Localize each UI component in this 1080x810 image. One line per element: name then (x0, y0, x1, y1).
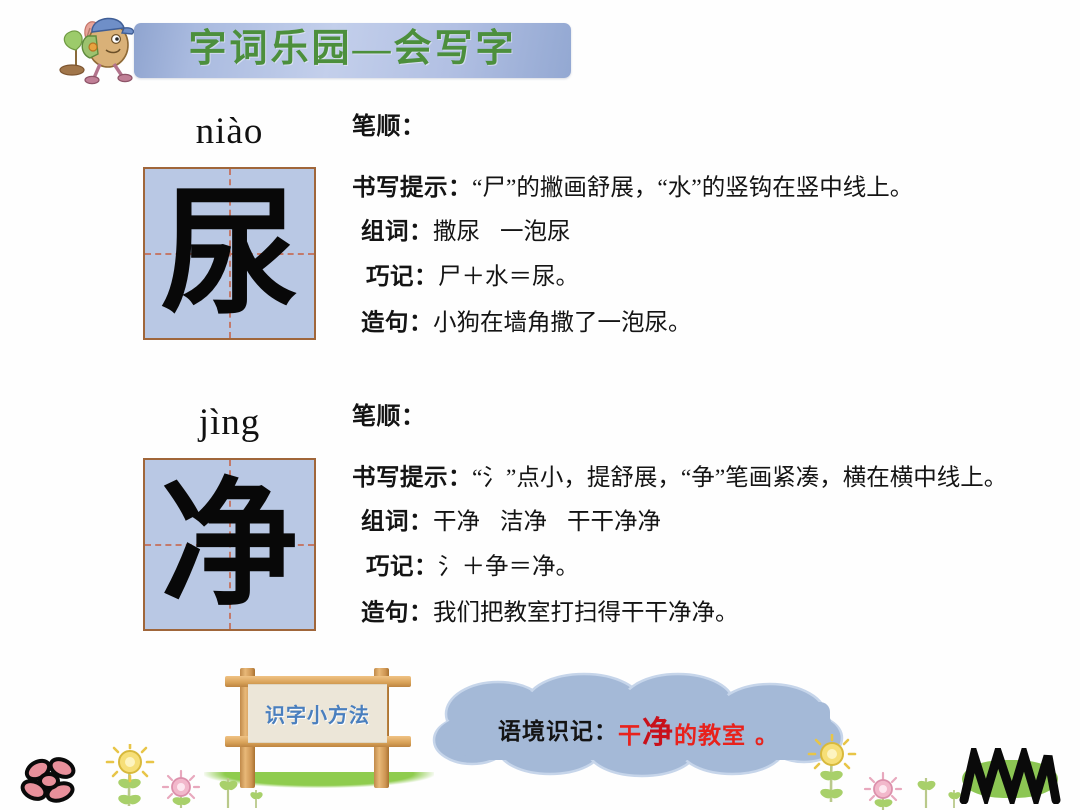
stroke-order-label: 笔顺： (352, 404, 426, 430)
tianzige-grid-icon: 净 (143, 458, 316, 631)
mnemonic-row: 巧记：氵＋争＝净。 (352, 552, 1064, 583)
flower-yellow-icon (806, 734, 864, 810)
sign-label: 识字小方法 (265, 699, 370, 728)
tianzige-grid-icon: 尿 (143, 167, 316, 340)
title-banner: 字词乐园—会写字 (134, 23, 571, 78)
word-item: 干净 (433, 509, 480, 535)
phrase-prefix: 干 (618, 723, 642, 749)
word-item: 一泡尿 (500, 219, 571, 245)
stroke-order-row: 笔顺： (352, 402, 1064, 434)
mnemonic-label: 巧记： (366, 554, 438, 580)
example-sentence-row: 造句：我们把教室打扫得干干净净。 (352, 598, 1064, 629)
word-formation-label: 组词： (361, 219, 433, 245)
word-item: 撒尿 (433, 219, 480, 245)
mnemonic-label: 巧记： (366, 264, 438, 290)
flower-small-pink-icon (160, 766, 204, 810)
pinyin-label: jìng (122, 404, 337, 452)
example-sentence-label: 造句： (361, 600, 433, 626)
flower-pink-icon (18, 754, 84, 810)
mnemonic-value: 尸＋水＝尿。 (438, 264, 579, 290)
writing-tip-value: “氵”点小，提舒展，“争”笔画紧凑，横在横中线上。 (472, 465, 1007, 491)
flower-small-pink-icon (862, 768, 906, 810)
sign-board: 识字小方法 (248, 684, 387, 743)
mnemonic-value: 氵＋争＝净。 (438, 554, 579, 580)
writing-tip-value: “尸”的撇画舒展，“水”的竖钩在竖中线上。 (472, 175, 913, 201)
sprout-icon (912, 766, 942, 810)
context-memory-phrase: 干净的教室 。 (618, 707, 779, 752)
pinyin-label: niào (122, 113, 337, 161)
grass-scribble-icon (958, 748, 1070, 809)
example-sentence-value: 小狗在墙角撒了一泡尿。 (433, 310, 692, 336)
writing-tip-label: 书写提示： (352, 465, 472, 491)
word-formation-row: 组词：撒尿一泡尿 (352, 217, 1064, 248)
example-sentence-label: 造句： (361, 310, 433, 336)
example-sentence-value: 我们把教室打扫得干干净净。 (433, 600, 739, 626)
writing-tip-row: 书写提示：“尸”的撇画舒展，“水”的竖钩在竖中线上。 (352, 173, 1064, 204)
writing-tip-row: 书写提示：“氵”点小，提舒展，“争”笔画紧凑，横在横中线上。 (352, 463, 1064, 494)
stroke-order-label: 笔顺： (352, 114, 426, 140)
page-title: 字词乐园—会写字 (188, 30, 516, 71)
context-memory-label: 语境识记： (498, 712, 618, 746)
example-sentence-row: 造句：小狗在墙角撒了一泡尿。 (352, 308, 1064, 339)
sprout-icon (246, 780, 268, 810)
character-card: jìng 净 (122, 404, 337, 631)
word-formation-label: 组词： (361, 509, 433, 535)
slide-header: 字词乐园—会写字 (0, 0, 1080, 90)
flower-yellow-icon (104, 744, 162, 810)
character-glyph: 净 (145, 460, 314, 629)
character-detail-block: 笔顺： 书写提示：“尸”的撇画舒展，“水”的竖钩在竖中线上。 组词：撒尿一泡尿 … (352, 112, 1064, 339)
character-card: niào 尿 (122, 113, 337, 340)
character-glyph: 尿 (145, 169, 314, 338)
phrase-suffix: 的教室 。 (674, 723, 779, 749)
writing-tip-label: 书写提示： (352, 175, 472, 201)
bottom-decoration (0, 744, 1080, 810)
word-formation-row: 组词：干净洁净干干净净 (352, 507, 1064, 538)
phrase-highlight: 净 (642, 715, 674, 751)
mnemonic-row: 巧记：尸＋水＝尿。 (352, 262, 1064, 293)
stroke-order-row: 笔顺： (352, 112, 1064, 144)
word-item: 洁净 (500, 509, 547, 535)
sprout-icon (214, 766, 244, 810)
character-detail-block: 笔顺： 书写提示：“氵”点小，提舒展，“争”笔画紧凑，横在横中线上。 组词：干净… (352, 402, 1064, 629)
egg-character-icon (46, 6, 146, 88)
slide-canvas: 字词乐园—会写字 niào 尿 笔顺： 书写提示：“尸”的撇画舒展，“水”的竖钩… (0, 0, 1080, 810)
word-item: 干干净净 (567, 509, 661, 535)
